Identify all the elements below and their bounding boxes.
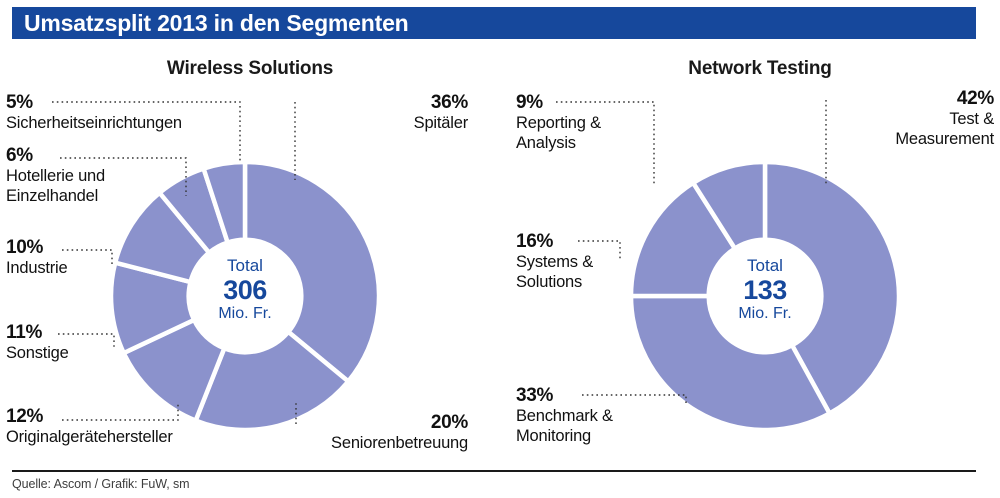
callout-name: Reporting & Analysis — [516, 114, 666, 153]
callout-pct: 9% — [516, 92, 666, 114]
callout-systems-and-solutions: 16% Systems & Solutions — [516, 231, 666, 292]
callout-name: Benchmark & Monitoring — [516, 407, 686, 446]
callout-benchmark-and-monitoring: 33% Benchmark & Monitoring — [516, 385, 686, 446]
source-note: Quelle: Ascom / Grafik: FuW, sm — [12, 477, 190, 491]
callout-pct: 16% — [516, 231, 666, 253]
callout-pct: 33% — [516, 385, 686, 407]
donut-chart-network-testing — [0, 0, 1000, 498]
footer-divider — [12, 470, 976, 472]
center-total-unit-network: Mio. Fr. — [705, 305, 825, 323]
callout-test-and-measurement: 42% Test & Measurement — [820, 88, 994, 149]
callout-reporting-and-analysis: 9% Reporting & Analysis — [516, 92, 666, 153]
center-total-word-network: Total — [705, 256, 825, 275]
callout-name: Test & Measurement — [820, 110, 994, 149]
donut-center-label-network: Total 133 Mio. Fr. — [705, 256, 825, 323]
callout-pct: 42% — [820, 88, 994, 110]
center-total-value-network: 133 — [705, 275, 825, 305]
callout-name: Systems & Solutions — [516, 253, 666, 292]
